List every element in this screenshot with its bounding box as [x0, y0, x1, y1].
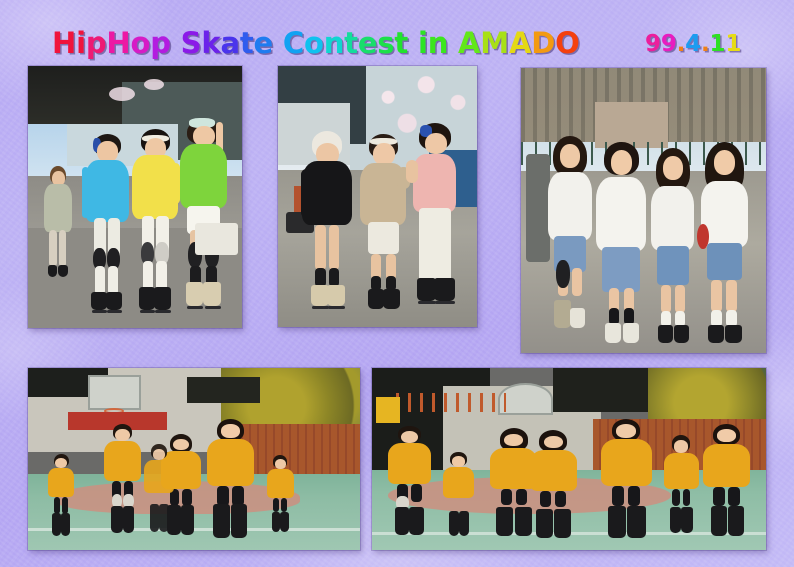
skater-yellow-jacket — [131, 129, 180, 318]
basketball-backboard — [498, 383, 553, 416]
photo-four-girls-white-tees[interactable] — [521, 68, 766, 353]
building-layer — [595, 102, 669, 148]
title-letter: e — [358, 26, 377, 60]
photo-4-scene — [28, 368, 360, 550]
title-letter: n — [428, 26, 448, 60]
title-letter: p — [150, 26, 171, 60]
blossom-cluster-icon — [144, 79, 164, 90]
title-letter: 9 — [645, 31, 661, 57]
girl-white-tee-1 — [546, 136, 595, 336]
title-letter — [408, 26, 418, 60]
skater-blue-jacket — [84, 134, 131, 317]
date-label: 99.4.11 — [645, 31, 741, 57]
title-letter: . — [677, 31, 686, 57]
title-letter: o — [304, 26, 324, 60]
team-skater — [144, 444, 174, 535]
photo-three-skaters-cherry-blossoms[interactable] — [278, 66, 477, 327]
title-letter: M — [480, 26, 509, 60]
basketball-backboard — [88, 375, 141, 410]
title-letter: O — [555, 26, 579, 60]
title-letter: 1 — [710, 31, 726, 57]
skater-beige-jacket — [358, 134, 410, 317]
scaffold-rig — [396, 393, 506, 411]
title-letter: a — [220, 26, 239, 60]
photo-5-scene — [372, 368, 766, 550]
photo-group-routine-right[interactable] — [372, 368, 766, 550]
team-skater-lead — [601, 419, 652, 543]
signage-mark — [376, 397, 400, 422]
title-letter: 1 — [725, 31, 741, 57]
skater-green-jacket — [178, 118, 229, 317]
title-letter: 9 — [661, 31, 677, 57]
title-letter: . — [701, 31, 710, 57]
title-letter: e — [254, 26, 273, 60]
title-letter: C — [283, 26, 304, 60]
title-letter: o — [130, 26, 150, 60]
title-letter: H — [52, 26, 76, 60]
team-skater — [664, 435, 699, 537]
girl-white-tee-3 — [648, 148, 697, 348]
title-letter: p — [86, 26, 107, 60]
title-letter: t — [394, 26, 408, 60]
title-letter: D — [531, 26, 555, 60]
awning-layer — [553, 368, 655, 412]
page-title: HipHop Skate Contest in AMADO — [52, 26, 580, 60]
team-skater — [530, 430, 577, 543]
photo-1-scene — [28, 66, 242, 328]
title-letter: k — [201, 26, 220, 60]
team-skater — [267, 455, 294, 535]
title-letter: A — [509, 26, 531, 60]
title-letter: 4 — [685, 31, 701, 57]
title-letter: i — [418, 26, 428, 60]
skater-black-hoodie — [302, 131, 354, 319]
title-letter: A — [458, 26, 480, 60]
page-background: HipHop Skate Contest in AMADO 99.4.11 — [0, 0, 794, 567]
title-letter: S — [181, 26, 202, 60]
background-person — [41, 166, 75, 281]
title-letter — [273, 26, 283, 60]
photo-group-routine-left[interactable] — [28, 368, 360, 550]
title-letter: t — [240, 26, 254, 60]
team-skater — [703, 424, 750, 540]
awning-layer — [187, 377, 260, 402]
title-bar: HipHop Skate Contest in AMADO 99.4.11 — [0, 12, 794, 52]
title-letter: s — [377, 26, 394, 60]
title-letter: H — [106, 26, 130, 60]
team-skater-lead — [207, 419, 253, 543]
title-letter: t — [344, 26, 358, 60]
team-skater — [104, 424, 141, 537]
skater-pink-top — [409, 123, 461, 316]
team-skater — [48, 454, 75, 540]
title-letter: n — [324, 26, 344, 60]
team-skater — [443, 452, 475, 539]
white-chair — [195, 223, 238, 254]
girl-white-tee-2 — [595, 142, 649, 347]
photo-three-skaters-color-jackets[interactable] — [28, 66, 242, 328]
title-letter — [171, 26, 181, 60]
team-skater — [388, 426, 431, 539]
girl-white-tee-4 — [697, 142, 751, 347]
photo-2-scene — [278, 66, 477, 327]
photo-3-scene — [521, 68, 766, 353]
title-letter — [448, 26, 458, 60]
title-letter: i — [76, 26, 86, 60]
